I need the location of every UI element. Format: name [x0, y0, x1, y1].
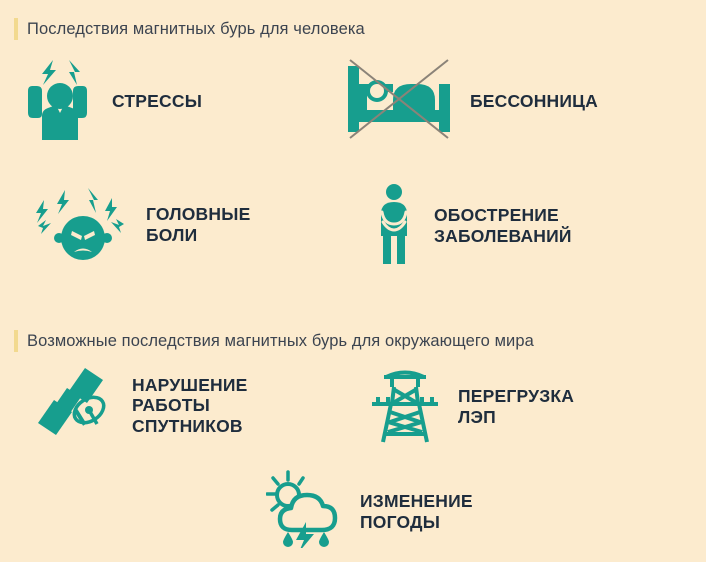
item-label-satellite: НАРУШЕНИЕ РАБОТЫ СПУТНИКОВ	[132, 375, 248, 436]
satellite-icon	[36, 364, 118, 447]
item-power: ПЕРЕГРУЗКА ЛЭП	[366, 364, 574, 449]
section-title-world: Возможные последствия магнитных бурь для…	[27, 332, 534, 351]
section-title-human: Последствия магнитных бурь для человека	[27, 20, 365, 39]
item-insomnia: БЕССОННИЦА	[344, 58, 598, 145]
item-label-insomnia: БЕССОННИЦА	[470, 91, 598, 111]
section-accent-bar	[14, 18, 18, 40]
infographic-page: Последствия магнитных бурь для человека	[0, 0, 706, 562]
item-illness: ОБОСТРЕНИЕ ЗАБОЛЕВАНИЙ	[370, 182, 572, 269]
item-weather: ИЗМЕНЕНИЕ ПОГОДЫ	[266, 470, 473, 553]
crossed-out-bed-icon	[344, 58, 456, 145]
item-satellite: НАРУШЕНИЕ РАБОТЫ СПУТНИКОВ	[36, 364, 248, 447]
section-accent-bar	[14, 330, 18, 352]
item-label-power: ПЕРЕГРУЗКА ЛЭП	[458, 386, 574, 427]
angry-face-icon	[32, 182, 132, 267]
section-header-world: Возможные последствия магнитных бурь для…	[14, 328, 534, 354]
power-pylon-icon	[366, 364, 444, 449]
section-header-human: Последствия магнитных бурь для человека	[14, 16, 365, 42]
item-label-headache: ГОЛОВНЫЕ БОЛИ	[146, 204, 250, 245]
sick-person-icon	[370, 182, 418, 269]
item-label-illness: ОБОСТРЕНИЕ ЗАБОЛЕВАНИЙ	[434, 205, 572, 246]
item-label-stress: СТРЕССЫ	[112, 91, 202, 111]
item-headache: ГОЛОВНЫЕ БОЛИ	[32, 182, 250, 267]
item-stress: СТРЕССЫ	[22, 58, 202, 145]
storm-weather-icon	[266, 470, 346, 553]
stressed-person-icon	[22, 58, 98, 145]
item-label-weather: ИЗМЕНЕНИЕ ПОГОДЫ	[360, 491, 473, 532]
